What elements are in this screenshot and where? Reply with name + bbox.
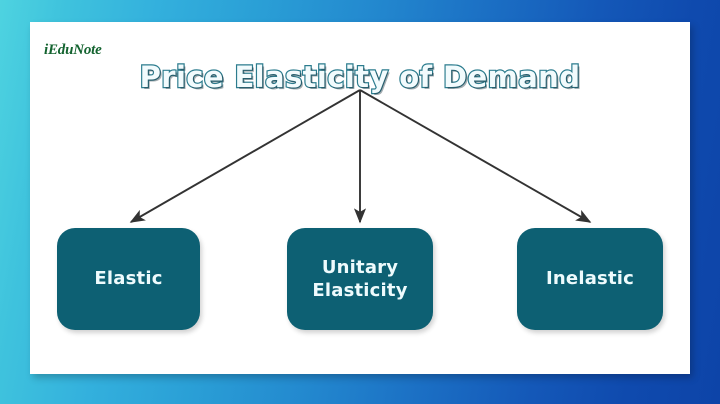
connector-to-inelastic [360, 90, 590, 222]
node-unitary-elasticity-label: Unitary Elasticity [312, 256, 407, 302]
slide-canvas: iEduNote Price Elasticity of Demand Elas… [0, 0, 720, 404]
connector-to-elastic [131, 90, 360, 222]
node-unitary-elasticity[interactable]: Unitary Elasticity [287, 228, 433, 330]
node-inelastic[interactable]: Inelastic [517, 228, 663, 330]
node-inelastic-label: Inelastic [546, 267, 634, 290]
node-elastic[interactable]: Elastic [57, 228, 200, 330]
node-elastic-label: Elastic [94, 267, 162, 290]
content-card: iEduNote Price Elasticity of Demand Elas… [30, 22, 690, 374]
